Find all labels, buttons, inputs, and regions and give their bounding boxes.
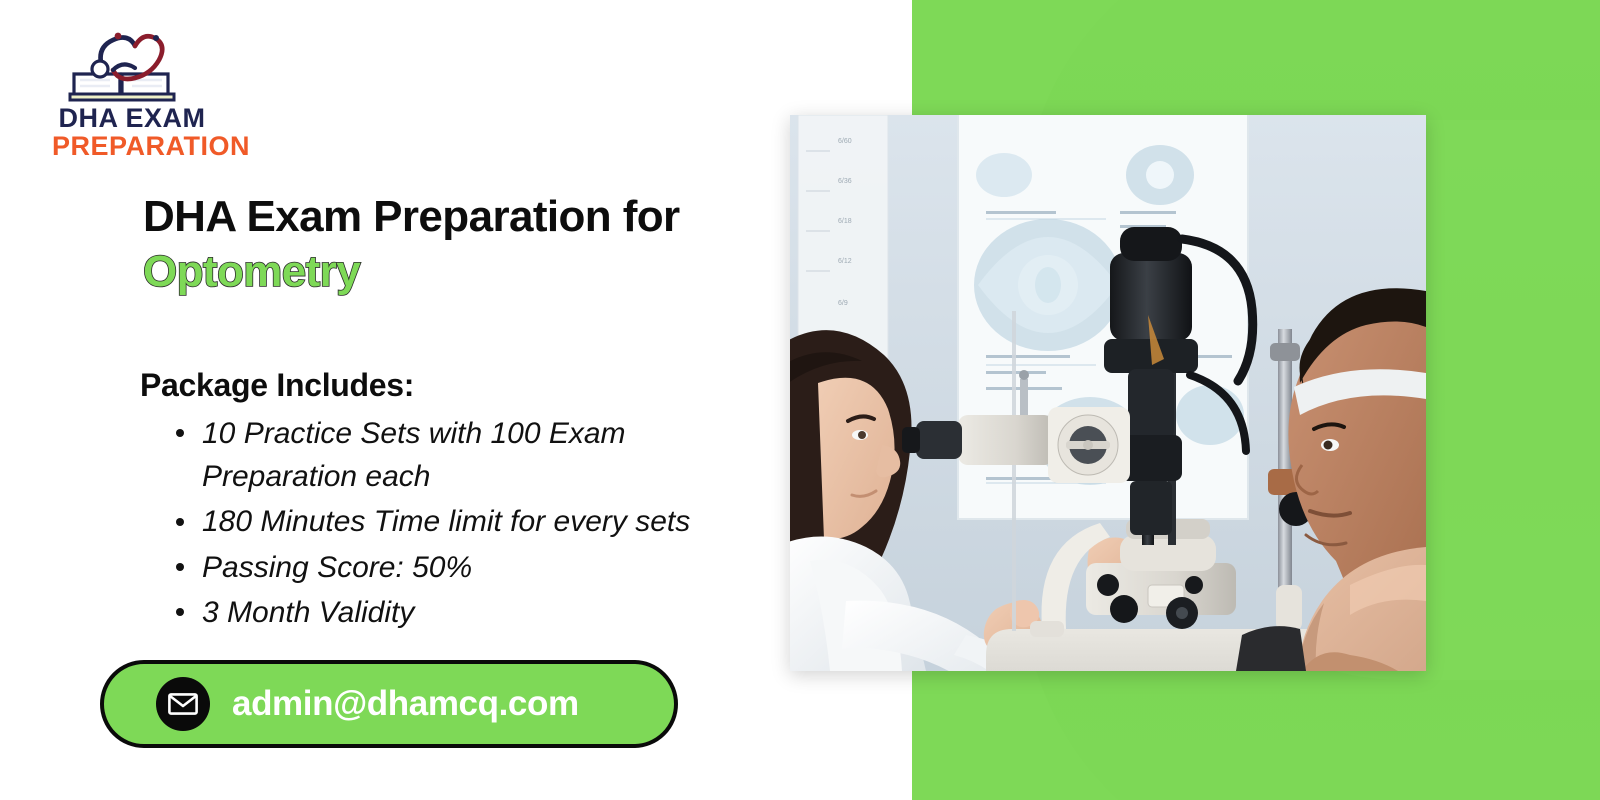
svg-text:6/36: 6/36 [838, 178, 852, 185]
bullet-icon [176, 563, 184, 571]
contact-email-button[interactable]: admin@dhamcq.com [100, 660, 678, 748]
stethoscope-book-icon [60, 24, 190, 104]
bullet-icon [176, 608, 184, 616]
envelope-icon [156, 677, 210, 731]
package-includes-heading: Package Includes: [140, 367, 414, 404]
brand-logo[interactable]: DHA EXAM PREPARATION [52, 24, 232, 154]
list-item: Passing Score: 50% [168, 546, 808, 589]
headline-line-1: DHA Exam Preparation for [143, 192, 843, 243]
list-item-label: 3 Month Validity [202, 596, 414, 629]
svg-text:6/9: 6/9 [838, 300, 848, 307]
headline-line-2-specialty: Optometry [143, 243, 843, 300]
logo-line-1: DHA EXAM [52, 104, 212, 132]
photo-illustration: 6/60 6/36 6/18 6/12 6/9 [790, 115, 1426, 671]
promotional-banner: 6/60 6/36 6/18 6/12 6/9 [0, 0, 1600, 800]
bullet-icon [176, 429, 184, 437]
list-item-label: 10 Practice Sets with 100 Exam Preparati… [202, 417, 626, 493]
list-item-label: 180 Minutes Time limit for every sets [202, 505, 690, 538]
logo-line-2: PREPARATION [52, 132, 212, 160]
page-title: DHA Exam Preparation for Optometry [143, 192, 843, 300]
svg-text:6/60: 6/60 [838, 138, 852, 145]
list-item-label: Passing Score: 50% [202, 551, 472, 584]
list-item: 10 Practice Sets with 100 Exam Preparati… [168, 412, 688, 498]
bullet-icon [176, 518, 184, 526]
optometrist-examining-patient-photo: 6/60 6/36 6/18 6/12 6/9 [790, 115, 1426, 671]
list-item: 180 Minutes Time limit for every sets [168, 500, 808, 543]
package-features-list: 10 Practice Sets with 100 Exam Preparati… [168, 412, 808, 636]
list-item: 3 Month Validity [168, 591, 808, 634]
contact-email-label: admin@dhamcq.com [232, 684, 579, 724]
